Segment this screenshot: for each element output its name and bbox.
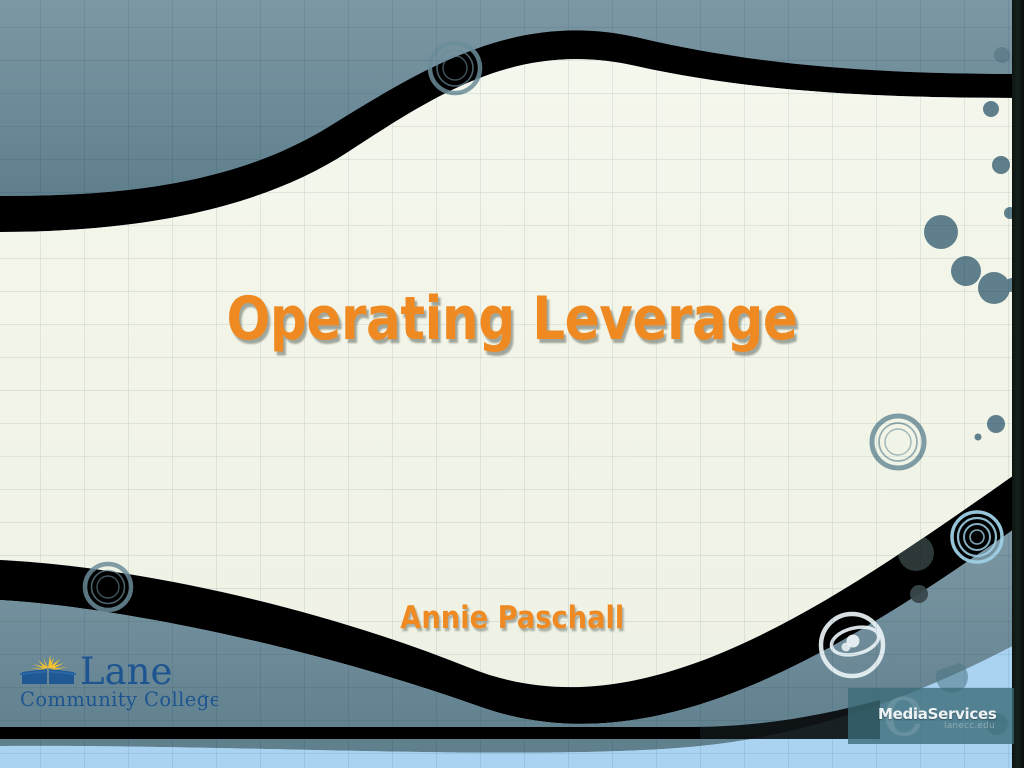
media-services-url: lanecc.edu (944, 721, 995, 731)
open-book-icon (20, 669, 76, 684)
logo-secondary-text: Community College (20, 688, 218, 711)
title-block: Operating Leverage (0, 288, 1024, 351)
right-edge-strip (1012, 0, 1024, 768)
presentation-slide: Operating Leverage Annie Paschall (0, 0, 1024, 768)
logo-trademark-text: ™ (200, 693, 208, 702)
author-name: Annie Paschall (400, 600, 624, 636)
author-block: Annie Paschall (0, 600, 1024, 636)
media-services-watermark: e MediaServices lanecc.edu (848, 688, 1014, 744)
sunburst-icon (30, 655, 68, 670)
logo-primary-text: Lane (80, 650, 172, 693)
lane-community-college-logo: Lane Community College ™ (18, 648, 218, 714)
slide-title: Operating Leverage (226, 288, 797, 351)
